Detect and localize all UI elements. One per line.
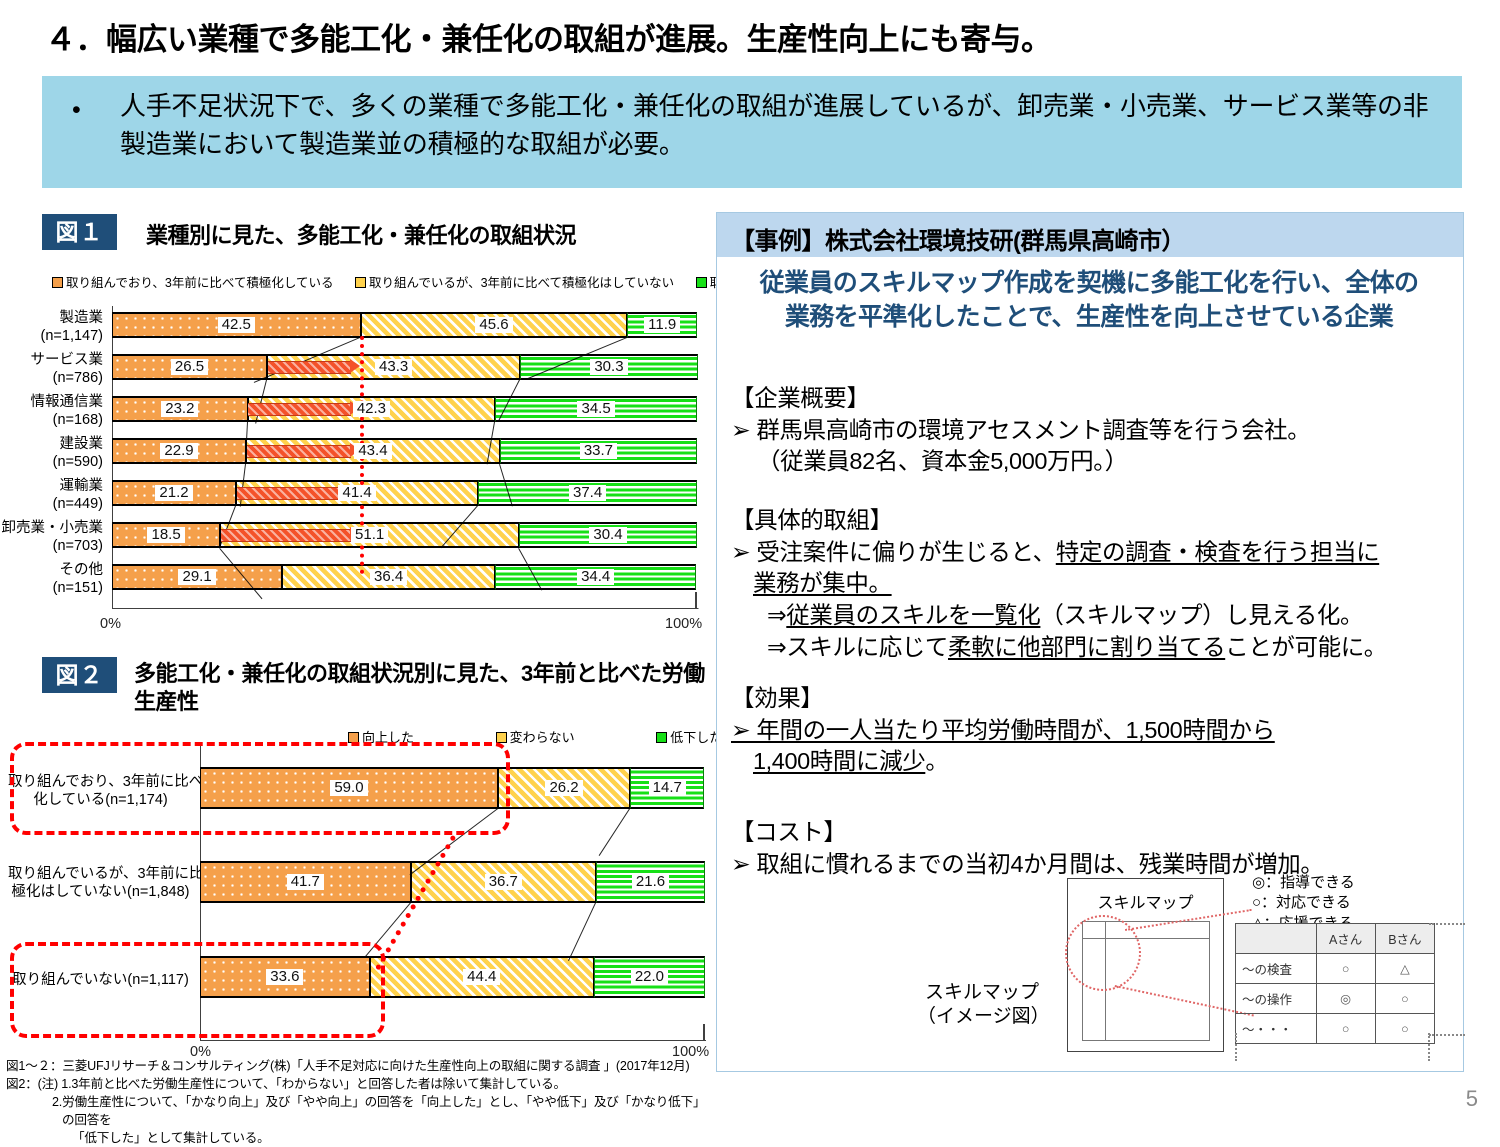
case-effect-line2-tail: 。 bbox=[925, 748, 948, 774]
legend-label-f2-2: 低下した bbox=[670, 730, 722, 745]
arrow-shaft bbox=[247, 445, 351, 458]
figure2-value-1-0: 41.7 bbox=[287, 874, 324, 890]
figure1-cat-name-0: 製造業 bbox=[60, 310, 104, 326]
skillmap-caption-line1: スキルマップ bbox=[925, 982, 1039, 1003]
figure1-cat-label-2: 情報通信業 (n=168) bbox=[0, 394, 103, 429]
case-overview: 【企業概要】 ➢ 群馬県高崎市の環境アセスメント調査等を行う会社。 （従業員82… bbox=[731, 383, 1455, 478]
case-study-panel: 【事例】株式会社環境技研(群馬県高崎市） 従業員のスキルマップ作成を契機に多能工… bbox=[716, 212, 1464, 1072]
figure1-bar-row-0: 42.5 45.6 11.9 bbox=[112, 312, 697, 338]
skillmap-row-2-label: ～・・・ bbox=[1236, 1014, 1317, 1044]
case-actions-line2-text: 業務が集中。 bbox=[753, 570, 892, 596]
case-overview-line2: （従業員82名、資本金5,000万円。） bbox=[731, 446, 1455, 478]
figure2-cat-label-1: 取り組んでいるが、3年前に比べて積 極化はしていない(n=1,848) bbox=[8, 866, 193, 901]
case-effect-title: 【効果】 bbox=[731, 683, 1455, 715]
figure2-bar-row-1: 41.7 36.7 21.6 bbox=[200, 861, 705, 903]
arrow-shaft bbox=[248, 403, 351, 416]
figure1-cat-n-4: (n=449) bbox=[53, 496, 103, 512]
case-actions-line3b: 従業員のスキルを一覧化 bbox=[786, 602, 1040, 628]
figure1-gap-arrow-2 bbox=[248, 401, 360, 416]
case-effect-line2: 1,400時間に減少。 bbox=[731, 746, 1455, 778]
case-actions: 【具体的取組】 ➢ 受注案件に偏りが生じると、特定の調査・検査を行う担当に 業務… bbox=[731, 505, 1455, 664]
figure2-callout-top bbox=[10, 742, 510, 835]
figure1-value-4-1: 41.4 bbox=[338, 485, 375, 501]
figure1-cat-label-4: 運輸業 (n=449) bbox=[0, 478, 103, 513]
case-actions-line3: ⇒従業員のスキルを一覧化（スキルマップ）し見える化。 bbox=[731, 600, 1455, 632]
figure1-cat-label-3: 建設業 (n=590) bbox=[0, 436, 103, 471]
case-effect-line1: ➢ 年間の一人当たり平均労働時間が、1,500時間から bbox=[731, 715, 1455, 747]
figure2-value-2-1: 44.4 bbox=[463, 969, 500, 985]
figure1-legend: 取り組んでおり、3年前に比べて積極化している 取り組んでいるが、3年前に比べて積… bbox=[52, 272, 827, 291]
case-cost-title: 【コスト】 bbox=[731, 817, 1455, 849]
figure1-cat-name-6: その他 bbox=[60, 562, 104, 578]
legend-label-f2-1: 変わらない bbox=[510, 730, 575, 745]
skillmap-caption-line2: （イメージ図） bbox=[917, 1006, 1050, 1027]
arrow-shaft bbox=[221, 529, 351, 542]
legend-label-f1-0: 取り組んでおり、3年前に比べて積極化している bbox=[66, 276, 333, 290]
figure1-value-6-1: 36.4 bbox=[370, 569, 407, 585]
figure1-value-1-0: 26.5 bbox=[171, 359, 208, 375]
figure1-value-4-2: 37.4 bbox=[569, 485, 606, 501]
figure2-value-2-2: 22.0 bbox=[631, 969, 668, 985]
page-number: 5 bbox=[1466, 1086, 1478, 1112]
case-overview-title: 【企業概要】 bbox=[731, 383, 1455, 415]
case-actions-line2: 業務が集中。 bbox=[731, 568, 1455, 600]
figure2-seg-2-1: 44.4 bbox=[370, 956, 594, 998]
figure1-value-6-0: 29.1 bbox=[178, 569, 215, 585]
skillmap-col-2: Bさん bbox=[1375, 924, 1434, 954]
skillmap-table-header-row: Aさん Bさん bbox=[1236, 924, 1435, 954]
case-effect-line1-text: ➢ 年間の一人当たり平均労働時間が、1,500時間から bbox=[731, 717, 1275, 743]
figure1-cat-name-3: 建設業 bbox=[60, 436, 104, 452]
skillmap-row-1-b: ○ bbox=[1375, 984, 1434, 1014]
figure1-seg-4-0: 21.2 bbox=[112, 480, 236, 506]
figure1-cat-n-6: (n=151) bbox=[53, 580, 103, 596]
figure1-cat-label-0: 製造業 (n=1,147) bbox=[0, 310, 103, 345]
figure1-seg-1-2: 30.3 bbox=[520, 354, 697, 380]
figure1-value-4-0: 21.2 bbox=[155, 485, 192, 501]
skillmap-table-row: ～・・・ ○ ○ bbox=[1236, 1014, 1435, 1044]
skillmap-key-2: ○：対応できる bbox=[1252, 893, 1355, 913]
figure1-seg-1-0: 26.5 bbox=[112, 354, 267, 380]
figure1-tag: 図１ bbox=[42, 214, 117, 250]
arrow-head-icon bbox=[350, 359, 360, 373]
case-lead: 従業員のスキルマップ作成を契機に多能工化を行い、全体の 業務を平準化したことで、… bbox=[731, 267, 1447, 334]
legend-swatch-green-icon bbox=[696, 277, 707, 288]
skillmap-key-1: ◎：指導できる bbox=[1252, 873, 1355, 893]
page-title: ４．幅広い業種で多能工化・兼任化の取組が進展。生産性向上にも寄与。 bbox=[45, 14, 1465, 59]
figure1-cat-n-5: (n=703) bbox=[53, 538, 103, 554]
skillmap-guide-left bbox=[1235, 1033, 1237, 1061]
footnote-line1: 図1～２：三菱UFJリサーチ＆コンサルティング(株)「人手不足対応に向けた生産性… bbox=[6, 1058, 706, 1076]
figure2-seg-1-2: 21.6 bbox=[596, 861, 705, 903]
case-header-title: 【事例】株式会社環境技研(群馬県高崎市） bbox=[731, 221, 1185, 256]
arrow-shaft bbox=[268, 361, 351, 374]
figure1-gap-arrow-1 bbox=[268, 359, 360, 374]
case-actions-line3c: （スキルマップ）し見える化。 bbox=[1040, 602, 1363, 628]
summary-bullet-marker: • bbox=[72, 98, 81, 123]
figure1-seg-3-0: 22.9 bbox=[112, 438, 246, 464]
figure1-value-0-0: 42.5 bbox=[218, 317, 255, 333]
figure1-cat-name-1: サービス業 bbox=[31, 352, 104, 368]
figure1-axis-min: 0% bbox=[100, 616, 121, 632]
figure1-value-1-2: 30.3 bbox=[590, 359, 627, 375]
skillmap-sheet-title: スキルマップ bbox=[1068, 889, 1223, 913]
figure1-seg-0-0: 42.5 bbox=[112, 312, 361, 338]
skillmap-row-1-label: ～の操作 bbox=[1236, 984, 1317, 1014]
figure1-seg-5-0: 18.5 bbox=[112, 522, 220, 548]
case-cost: 【コスト】 ➢ 取組に慣れるまでの当初4か月間は、残業時間が増加。 bbox=[731, 817, 1455, 880]
figure2-callout-bottom bbox=[10, 942, 385, 1038]
skillmap-caption: スキルマップ （イメージ図） bbox=[917, 981, 1047, 1029]
figure1-value-0-2: 11.9 bbox=[644, 317, 680, 333]
figure2-cat-line2-1: 極化はしていない(n=1,848) bbox=[11, 884, 189, 900]
case-lead-line1: 従業員のスキルマップ作成を契機に多能工化を行い、全体の bbox=[760, 269, 1419, 297]
figure1-cat-n-0: (n=1,147) bbox=[41, 328, 103, 344]
case-effect: 【効果】 ➢ 年間の一人当たり平均労働時間が、1,500時間から 1,400時間… bbox=[731, 683, 1455, 778]
figure2-seg-0-1: 26.2 bbox=[498, 767, 630, 809]
figure2-heading-text: 多能工化・兼任化の取組状況別に見た、3年前と比べた労働生産性 bbox=[134, 661, 705, 714]
figure1-seg-2-2: 34.5 bbox=[495, 396, 697, 422]
skillmap-illustration: スキルマップ （イメージ図） スキルマップ ◎：指導できる ○：対応できる △：… bbox=[917, 873, 1457, 1058]
figure2-value-0-0: 59.0 bbox=[330, 780, 367, 796]
figure1-value-0-1: 45.6 bbox=[475, 317, 512, 333]
figure1-bar-row-2: 23.2 42.3 34.5 bbox=[112, 396, 697, 422]
figure1-seg-6-0: 29.1 bbox=[112, 564, 282, 590]
legend-swatch-yellow-icon bbox=[355, 277, 366, 288]
skillmap-guide-top bbox=[1429, 923, 1465, 925]
legend-swatch-orange-icon bbox=[52, 277, 63, 288]
legend-swatch-green-icon bbox=[656, 732, 667, 743]
case-effect-line2-text: 1,400時間に減少 bbox=[753, 748, 925, 774]
figure1-axis-max: 100% bbox=[665, 616, 702, 632]
figure2-value-0-1: 26.2 bbox=[545, 780, 582, 796]
figure1-value-1-1: 43.3 bbox=[375, 359, 412, 375]
figure1-value-2-0: 23.2 bbox=[161, 401, 198, 417]
figure1-cat-name-4: 運輸業 bbox=[60, 478, 104, 494]
figure1-seg-3-2: 33.7 bbox=[500, 438, 697, 464]
figure2-heading: 多能工化・兼任化の取組状況別に見た、3年前と比べた労働生産性 bbox=[134, 660, 714, 715]
legend-item-f1-0: 取り組んでおり、3年前に比べて積極化している bbox=[52, 272, 333, 291]
footnote-line3: 2.労働生産性について、「かなり向上」及び「やや向上」の回答を「向上した」とし、… bbox=[6, 1094, 706, 1130]
figure1-seg-0-2: 11.9 bbox=[627, 312, 697, 338]
case-actions-line3a: ⇒ bbox=[767, 602, 786, 628]
figure1-seg-6-2: 34.4 bbox=[495, 564, 696, 590]
footnotes: 図1～２：三菱UFJリサーチ＆コンサルティング(株)「人手不足対応に向けた生産性… bbox=[6, 1058, 706, 1147]
figure1-value-6-2: 34.4 bbox=[577, 569, 614, 585]
case-actions-line4a: ⇒スキルに応じて bbox=[767, 634, 948, 660]
figure2-tag: 図２ bbox=[42, 657, 117, 693]
figure1-seg-6-1: 36.4 bbox=[282, 564, 495, 590]
case-actions-line4: ⇒スキルに応じて柔軟に他部門に割り当てることが可能に。 bbox=[731, 632, 1455, 664]
figure1-seg-5-2: 30.4 bbox=[519, 522, 697, 548]
skillmap-col-0 bbox=[1236, 924, 1317, 954]
case-actions-line4c: ことが可能に。 bbox=[1225, 634, 1387, 660]
figure1-cat-name-5: 卸売業・小売業 bbox=[2, 520, 104, 536]
figure1-bar-row-4: 21.2 41.4 37.4 bbox=[112, 480, 697, 506]
figure2-value-1-1: 36.7 bbox=[485, 874, 522, 890]
figure2-seg-1-0: 41.7 bbox=[200, 861, 411, 903]
case-actions-title: 【具体的取組】 bbox=[731, 505, 1455, 537]
figure1-value-5-2: 30.4 bbox=[589, 527, 626, 543]
figure1-seg-2-0: 23.2 bbox=[112, 396, 248, 422]
figure2-seg-2-2: 22.0 bbox=[594, 956, 705, 998]
figure1-value-2-2: 34.5 bbox=[577, 401, 614, 417]
skillmap-row-0-label: ～の検査 bbox=[1236, 954, 1317, 984]
figure1-value-5-0: 18.5 bbox=[147, 527, 184, 543]
figure1-cat-n-2: (n=168) bbox=[53, 412, 103, 428]
skillmap-guide-right bbox=[1428, 1033, 1430, 1061]
case-actions-line1a: ➢ 受注案件に偏りが生じると、 bbox=[731, 539, 1056, 565]
figure2-value-1-2: 21.6 bbox=[632, 874, 669, 890]
figure1-bar-row-3: 22.9 43.4 33.7 bbox=[112, 438, 697, 464]
case-overview-line1: ➢ 群馬県高崎市の環境アセスメント調査等を行う会社。 bbox=[731, 415, 1455, 447]
skillmap-highlight-circle-icon bbox=[1065, 915, 1141, 991]
skillmap-row-0-b: △ bbox=[1375, 954, 1434, 984]
case-actions-line1: ➢ 受注案件に偏りが生じると、特定の調査・検査を行う担当に bbox=[731, 537, 1455, 569]
footnote-line2: 図2：(注) 1.3年前と比べた労働生産性について、「わからない」と回答した者は… bbox=[6, 1076, 706, 1094]
case-lead-line2: 業務を平準化したことで、生産性を向上させている企業 bbox=[785, 303, 1393, 331]
figure1-bar-row-6: 29.1 36.4 34.4 bbox=[112, 564, 696, 590]
case-actions-line4b: 柔軟に他部門に割り当てる bbox=[948, 634, 1225, 660]
figure1-value-5-1: 51.1 bbox=[351, 527, 388, 543]
arrow-shaft bbox=[237, 487, 351, 500]
figure1-value-2-1: 42.3 bbox=[353, 401, 390, 417]
legend-label-f1-1: 取り組んでいるが、3年前に比べて積極化はしていない bbox=[369, 276, 674, 290]
figure1-cat-label-5: 卸売業・小売業 (n=703) bbox=[0, 520, 103, 555]
skillmap-row-1-a: ◎ bbox=[1316, 984, 1375, 1014]
figure1-value-3-0: 22.9 bbox=[160, 443, 197, 459]
figure2-value-2-0: 33.6 bbox=[266, 969, 303, 985]
skillmap-table-row: ～の操作 ◎ ○ bbox=[1236, 984, 1435, 1014]
figure1-gap-arrow-5 bbox=[221, 527, 360, 542]
figure1-value-3-1: 43.4 bbox=[354, 443, 391, 459]
figure1-cat-n-1: (n=786) bbox=[53, 370, 103, 386]
case-actions-line1b: 特定の調査・検査を行う担当に bbox=[1056, 539, 1379, 565]
summary-band: • 人手不足状況下で、多くの業種で多能工化・兼任化の取組が進展しているが、卸売業… bbox=[42, 76, 1462, 188]
figure1-cat-label-1: サービス業 (n=786) bbox=[0, 352, 103, 387]
figure2-value-0-2: 14.7 bbox=[649, 780, 686, 796]
skillmap-table: Aさん Bさん ～の検査 ○ △ ～の操作 ◎ ○ ～・・・ ○ ○ bbox=[1235, 923, 1435, 1044]
skillmap-row-2-a: ○ bbox=[1316, 1014, 1375, 1044]
figure1-bar-row-5: 18.5 51.1 30.4 bbox=[112, 522, 697, 548]
skillmap-row-2-b: ○ bbox=[1375, 1014, 1434, 1044]
figure1-seg-0-1: 45.6 bbox=[361, 312, 628, 338]
figure1-heading: 業種別に見た、多能工化・兼任化の取組状況 bbox=[146, 218, 576, 250]
skillmap-guide-bottom bbox=[1429, 1034, 1465, 1036]
case-header: 【事例】株式会社環境技研(群馬県高崎市） bbox=[717, 213, 1463, 257]
figure1-cat-name-2: 情報通信業 bbox=[31, 394, 104, 410]
figure1-cat-n-3: (n=590) bbox=[53, 454, 103, 470]
figure1-value-3-2: 33.7 bbox=[580, 443, 617, 459]
legend-item-f1-1: 取り組んでいるが、3年前に比べて積極化はしていない bbox=[355, 272, 674, 291]
skillmap-col-1: Aさん bbox=[1316, 924, 1375, 954]
summary-text: 人手不足状況下で、多くの業種で多能工化・兼任化の取組が進展しているが、卸売業・小… bbox=[120, 88, 1445, 163]
figure2-seg-0-2: 14.7 bbox=[630, 767, 704, 809]
footnote-line4: 「低下した」として集計している。 bbox=[6, 1130, 706, 1147]
figure1-cat-label-6: その他 (n=151) bbox=[0, 562, 103, 597]
figure1-gap-arrow-3 bbox=[247, 443, 360, 458]
skillmap-row-0-a: ○ bbox=[1316, 954, 1375, 984]
figure1-bar-row-1: 26.5 43.3 30.3 bbox=[112, 354, 698, 380]
skillmap-table-row: ～の検査 ○ △ bbox=[1236, 954, 1435, 984]
